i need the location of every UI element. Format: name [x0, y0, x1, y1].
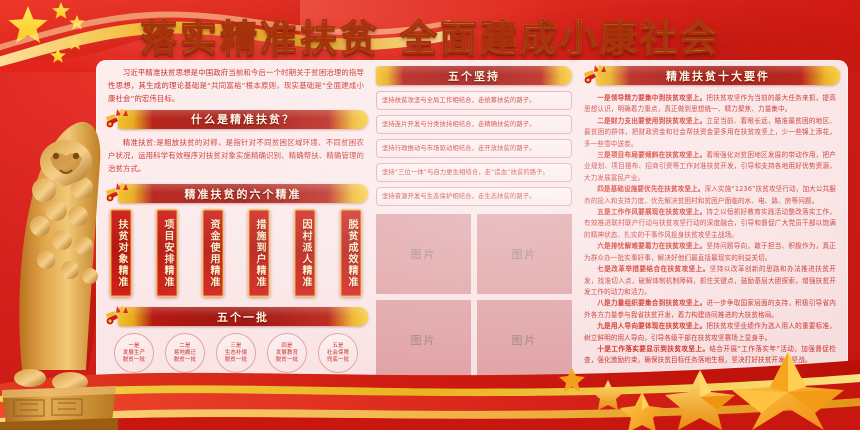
plaque-item: 扶贫对象精准	[110, 209, 132, 297]
plaque-label: 项目安排精准	[162, 219, 172, 288]
list-item: 坚持连片开发与分类扶持相结合，走精确扶贫的路子。	[376, 115, 572, 134]
badge-ribbon: 什么是精准扶贫？	[118, 110, 368, 129]
plaque-label: 因村派人精准	[300, 219, 310, 288]
list-item: 坚持扶贫攻坚与全局工作相结合，走统筹扶贫的路子。	[376, 91, 572, 110]
badge-label: 五个一批	[217, 309, 269, 325]
badge-ribbon: 五个坚持	[376, 66, 572, 85]
badge-five-persistences: 五个坚持	[376, 66, 572, 85]
badge-ribbon: 精准扶贫十大要件	[596, 66, 840, 85]
essential-item: 五是工作作风要展现在扶贫攻坚上。持之以恒抓好教育实践活动整改落实工作，有效推进联…	[584, 207, 836, 241]
list-item: 坚持行政推动与市场驱动相结合，走开放扶贫的路子。	[376, 139, 572, 158]
essential-lead: 五是工作作风要展现在扶贫攻坚上。	[597, 208, 706, 216]
star-medium	[665, 370, 735, 430]
six-precisions-row: 扶贫对象精准 项目安排精准 资金使用精准 措施到户精准 因村派人精准 脱贫成效精…	[104, 209, 368, 297]
essential-item: 七是改革举措要结合在扶贫攻坚上。坚持以改革创新的思路和办法推进扶贫开发，找准切入…	[584, 264, 836, 298]
badge-ten-essentials: 精准扶贫十大要件	[582, 66, 840, 85]
star-spark	[559, 368, 585, 392]
badge-ribbon: 五个一批	[118, 307, 368, 326]
left-column: 习近平精准扶贫思想是中国政府当前和今后一个时期关于贫困治理的指导性思想，其生成的…	[104, 60, 368, 373]
firecracker-ornament-icon	[582, 62, 608, 87]
badge-what-is-precision-poverty-alleviation: 什么是精准扶贫？	[104, 110, 368, 129]
plaque-item: 措施到户精准	[248, 209, 270, 297]
essential-lead: 九是用人导向要体现在扶贫攻坚上。	[597, 322, 706, 330]
badge-label: 精准扶贫的六个精准	[185, 186, 302, 202]
essential-lead: 八是力量组织要集合到扶贫攻坚上。	[597, 299, 706, 307]
firecracker-ornament-icon	[104, 106, 130, 131]
star-large	[732, 352, 844, 430]
badge-label: 五个坚持	[448, 68, 500, 84]
essential-item: 一是领导精力要集中到扶贫攻坚上。把扶贫攻坚作为当前的最大任务来抓，提高思想认识，…	[584, 93, 836, 116]
plaque-item: 资金使用精准	[202, 209, 224, 297]
essential-lead: 一是领导精力要集中到扶贫攻坚上。	[597, 94, 706, 102]
firecracker-ornament-icon	[104, 180, 130, 205]
essential-lead: 三是项目布局要倾斜在扶贫攻坚上。	[597, 151, 706, 159]
what-is-paragraph: 精准扶贫:是粗放扶贫的对称，是指针对不同贫困区域环境、不同贫困农户状况，运用科学…	[104, 135, 368, 176]
plaque-item: 因村派人精准	[294, 209, 316, 297]
poster-board: 落实精准扶贫 全面建成小康社会 习近平精准扶贫思想是中国政府当前和今后一个时期关…	[0, 0, 860, 430]
photo-placeholder[interactable]: 图片	[376, 214, 471, 294]
essential-item: 四是基础设施要优先在扶贫攻坚上。深入实施“1236”扶贫攻坚行动，加大公共服务的…	[584, 184, 836, 207]
essential-item: 八是力量组织要集合到扶贫攻坚上。进一步争取国家层面的支持，积极引导省内外各方力量…	[584, 298, 836, 321]
plaque-label: 脱贫成效精准	[346, 219, 356, 288]
gold-stars-decoration	[530, 340, 860, 430]
star-small	[620, 392, 664, 430]
badge-ribbon: 精准扶贫的六个精准	[118, 184, 368, 203]
essential-lead: 二是财力支出要使用到扶贫攻坚上。	[597, 117, 706, 125]
ten-essentials-list: 一是领导精力要集中到扶贫攻坚上。把扶贫攻坚作为当前的最大任务来抓，提高思想认识，…	[582, 91, 840, 367]
right-column: 精准扶贫十大要件 一是领导精力要集中到扶贫攻坚上。把扶贫攻坚作为当前的最大任务来…	[582, 60, 840, 367]
plaque-item: 项目安排精准	[156, 209, 178, 297]
badge-five-batches: 五个一批	[104, 307, 368, 326]
essential-item: 二是财力支出要使用到扶贫攻坚上。立足当前、着眼长远，瞄准最贫困的地区、最贫困的群…	[584, 116, 836, 150]
badge-six-precisions: 精准扶贫的六个精准	[104, 184, 368, 203]
plaque-label: 资金使用精准	[208, 219, 218, 288]
plaque-label: 扶贫对象精准	[116, 219, 126, 288]
intro-paragraph: 习近平精准扶贫思想是中国政府当前和今后一个时期关于贫困治理的指导性思想，其生成的…	[104, 60, 368, 110]
essential-item: 六是排忧解难要着力在扶贫攻坚上。坚持问题导向，敢于担当、积极作为，真正为群众办一…	[584, 241, 836, 264]
list-item: 坚持“三位一体”与自力更生相结合，走“造血”扶贫的路子。	[376, 163, 572, 182]
star-tiny	[592, 380, 624, 410]
five-persistences-list: 坚持扶贫攻坚与全局工作相结合，走统筹扶贫的路子。 坚持连片开发与分类扶持相结合，…	[376, 91, 572, 206]
badge-label: 精准扶贫十大要件	[666, 68, 770, 84]
firecracker-ornament-icon	[104, 303, 130, 328]
essential-lead: 四是基础设施要优先在扶贫攻坚上。	[597, 185, 704, 193]
plaque-label: 措施到户精准	[254, 219, 264, 288]
badge-label: 什么是精准扶贫？	[191, 111, 295, 127]
plaque-item: 脱贫成效精准	[340, 209, 362, 297]
photo-placeholder[interactable]: 图片	[477, 214, 572, 294]
list-item: 坚持资源开发与生态保护相结合，走生态扶贫的路子。	[376, 187, 572, 206]
essential-lead: 七是改革举措要结合在扶贫攻坚上。	[597, 265, 710, 273]
middle-column: 五个坚持 坚持扶贫攻坚与全局工作相结合，走统筹扶贫的路子。 坚持连片开发与分类扶…	[376, 60, 572, 380]
essential-item: 三是项目布局要倾斜在扶贫攻坚上。着眼强化对贫困地区发展的带动作用，把产业规划、项…	[584, 150, 836, 184]
essential-lead: 六是排忧解难要着力在扶贫攻坚上。	[597, 242, 706, 250]
